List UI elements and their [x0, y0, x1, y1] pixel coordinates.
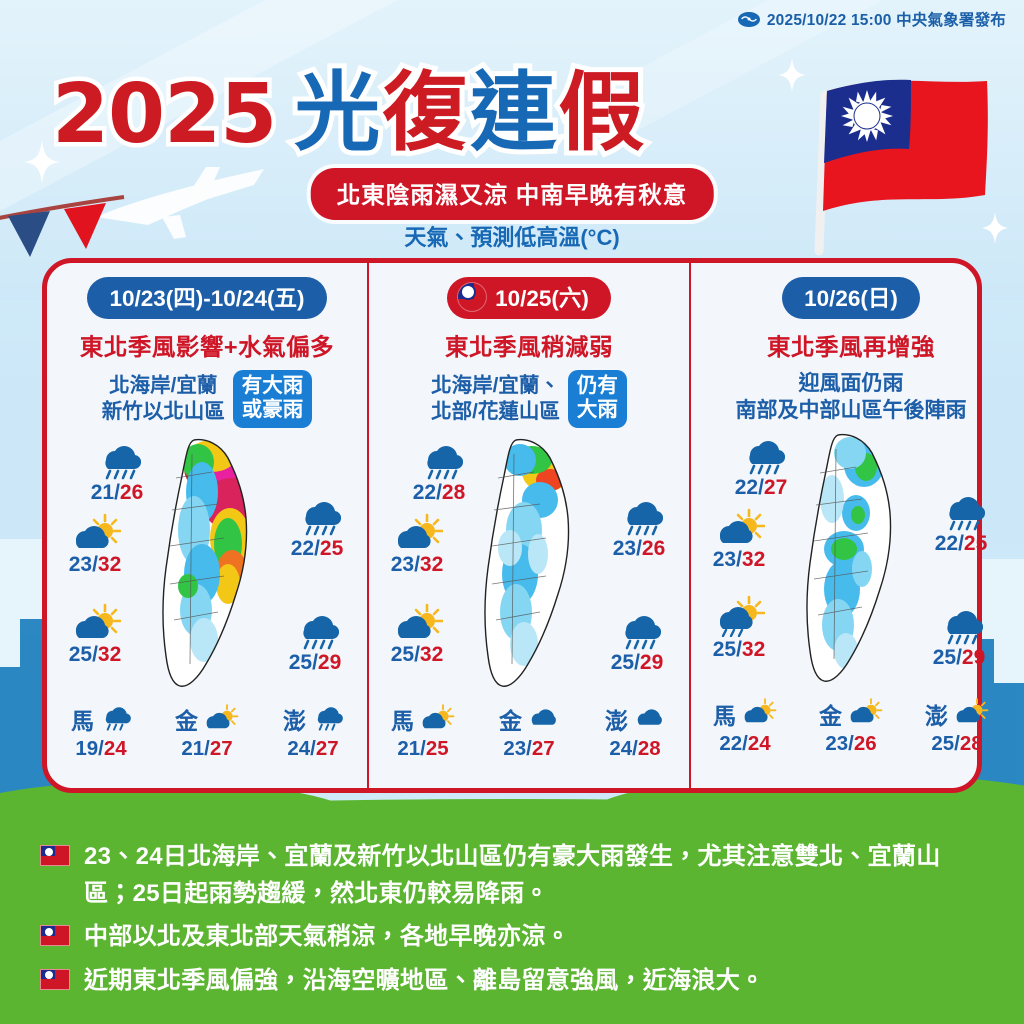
- island-penghu-1: 澎 24/27: [267, 702, 359, 761]
- cloudy-icon: [525, 704, 559, 735]
- island-temp: 23/26: [825, 732, 876, 756]
- temp-east-1: 22/25: [271, 494, 363, 561]
- footer-note-text-1: 23、24日北海岸、宜蘭及新竹以北山區仍有豪大雨發生，尤其注意雙北、宜蘭山區；2…: [84, 839, 984, 912]
- island-temp: 22/24: [719, 732, 770, 756]
- island-name: 澎: [283, 702, 306, 736]
- forecast-card: 10/23(四)-10/24(五) 東北季風影響+水氣偏多 北海岸/宜蘭 新竹以…: [42, 258, 982, 793]
- island-name: 澎: [925, 697, 948, 731]
- island-temp: 23/27: [503, 737, 554, 761]
- partly-sunny-rain-icon: [713, 595, 765, 637]
- warn-line-2b: 大雨: [577, 398, 618, 422]
- forecast-column-2[interactable]: 10/25(六) 東北季風稍減弱 北海岸/宜蘭、 北部/花蓮山區 仍有 大雨: [367, 263, 689, 788]
- subtitle-banner: 北東陰雨濕又涼 中南早晚有秋意: [311, 168, 714, 220]
- date-pill-3[interactable]: 10/26(日): [782, 277, 920, 319]
- island-penghu-2: 澎 24/28: [589, 702, 681, 761]
- desc-lines-2: 北海岸/宜蘭、 北部/花蓮山區: [431, 373, 560, 425]
- temp-southwest-3: 25/32: [693, 595, 785, 662]
- island-name: 金: [175, 702, 198, 736]
- rain-icon: [615, 494, 663, 536]
- footer-note-text-2: 中部以北及東北部天氣稍涼，各地早晚亦涼。: [84, 919, 570, 955]
- cloudy-icon: [631, 704, 665, 735]
- temp-east-3: 22/25: [915, 489, 1007, 556]
- island-penghu-top-2: 澎: [605, 702, 665, 736]
- date-label-3: 10/26(日): [804, 281, 898, 313]
- rain-icon: [935, 603, 983, 645]
- warning-badge-2: 仍有 大雨: [568, 370, 627, 428]
- island-temp: 19/24: [75, 737, 126, 761]
- warn-line-1a: 有大雨: [242, 374, 304, 398]
- desc-line-2a: 北海岸/宜蘭、: [431, 373, 560, 399]
- island-penghu-top-1: 澎: [283, 702, 343, 736]
- column-description-2: 北海岸/宜蘭、 北部/花蓮山區 仍有 大雨: [377, 370, 681, 428]
- temp-west-2: 23/32: [371, 510, 463, 577]
- rain-icon: [737, 433, 785, 475]
- column-description-3: 迎風面仍雨 南部及中部山區午後陣雨: [736, 370, 967, 425]
- island-matsu-2: 馬 21/25: [377, 702, 469, 761]
- footer-note-2: 中部以北及東北部天氣稍涼，各地早晚亦涼。: [40, 919, 984, 955]
- date-pill-2[interactable]: 10/25(六): [447, 277, 611, 319]
- temp-value-north-1: 21/26: [91, 481, 144, 505]
- temp-north-2: 22/28: [393, 438, 485, 505]
- island-kinmen-2: 金 23/27: [483, 702, 575, 761]
- temp-southeast-3: 25/29: [913, 603, 1005, 670]
- rain-icon: [613, 608, 661, 650]
- temp-value-southeast-1: 25/29: [289, 651, 342, 675]
- roc-flag-icon: [791, 55, 1006, 260]
- island-name: 馬: [713, 697, 736, 731]
- temp-southwest-2: 25/32: [371, 600, 463, 667]
- island-kinmen-top-1: 金: [175, 702, 239, 736]
- temp-value-west-3: 23/32: [713, 548, 766, 572]
- desc-line-2b: 北部/花蓮山區: [431, 399, 560, 425]
- desc-line-1a: 北海岸/宜蘭: [102, 373, 225, 399]
- island-kinmen-top-3: 金: [819, 697, 883, 731]
- islands-row-3: 馬 22/24 金 23/26 澎: [699, 697, 1003, 756]
- island-temp: 24/28: [609, 737, 660, 761]
- islands-row-1: 馬 19/24 金 21/27 澎: [55, 702, 359, 761]
- temp-value-north-2: 22/28: [413, 481, 466, 505]
- temp-value-southeast-2: 25/29: [611, 651, 664, 675]
- temp-value-southeast-3: 25/29: [933, 646, 986, 670]
- rain-icon: [293, 494, 341, 536]
- footer-note-text-3: 近期東北季風偏強，沿海空曠地區、離島留意強風，近海浪大。: [84, 963, 764, 999]
- island-kinmen-3: 金 23/26: [805, 697, 897, 756]
- desc-lines-1: 北海岸/宜蘭 新竹以北山區: [102, 373, 225, 425]
- island-name: 澎: [605, 702, 628, 736]
- date-label-2: 10/25(六): [495, 281, 589, 313]
- rain-icon: [309, 703, 343, 736]
- map-zone-2: 22/28 23/32 23/26 25/32: [377, 432, 681, 700]
- footer-notes: 23、24日北海岸、宜蘭及新竹以北山區仍有豪大雨發生，尤其注意雙北、宜蘭山區；2…: [0, 839, 1024, 1006]
- partly-sunny-icon: [391, 510, 443, 552]
- islands-row-2: 馬 21/25 金 23/27 澎: [377, 702, 681, 761]
- island-name: 金: [819, 697, 842, 731]
- island-matsu-top-1: 馬: [71, 702, 131, 736]
- map-zone-1: 21/26 23/32: [55, 432, 359, 700]
- rain-icon: [93, 438, 141, 480]
- title-char-4: 假: [558, 65, 646, 161]
- temp-value-east-1: 22/25: [291, 537, 344, 561]
- warn-line-1b: 或豪雨: [242, 398, 304, 422]
- rain-icon: [97, 703, 131, 736]
- temp-north-3: 22/27: [715, 433, 807, 500]
- roc-flag-icon: [40, 925, 70, 946]
- date-label-1: 10/23(四)-10/24(五): [109, 281, 304, 313]
- partly-sunny-icon: [739, 697, 777, 730]
- date-pill-1[interactable]: 10/23(四)-10/24(五): [87, 277, 326, 319]
- rain-icon: [415, 438, 463, 480]
- partly-sunny-icon: [713, 505, 765, 547]
- island-matsu-top-2: 馬: [391, 702, 455, 736]
- footer-note-1: 23、24日北海岸、宜蘭及新竹以北山區仍有豪大雨發生，尤其注意雙北、宜蘭山區；2…: [40, 839, 984, 912]
- partly-sunny-icon: [845, 697, 883, 730]
- map-zone-3: 22/27 23/32 22/25 25/32: [699, 427, 1003, 695]
- title-main: 光復連假: [294, 42, 646, 167]
- temp-west-1: 23/32: [49, 510, 141, 577]
- partly-sunny-icon: [951, 697, 989, 730]
- title-char-3: 連: [470, 65, 558, 161]
- temp-west-3: 23/32: [693, 505, 785, 572]
- island-temp: 24/27: [287, 737, 338, 761]
- temp-value-southwest-3: 25/32: [713, 638, 766, 662]
- island-kinmen-top-2: 金: [499, 702, 559, 736]
- temp-southwest-1: 25/32: [49, 600, 141, 667]
- island-name: 馬: [391, 702, 414, 736]
- title-char-2: 復: [382, 65, 470, 161]
- footer-note-3: 近期東北季風偏強，沿海空曠地區、離島留意強風，近海浪大。: [40, 963, 984, 999]
- weather-bureau-icon: [738, 12, 760, 27]
- island-kinmen-1: 金 21/27: [161, 702, 253, 761]
- temp-southeast-1: 25/29: [269, 608, 361, 675]
- roc-flag-icon: [40, 845, 70, 866]
- page-title: 2025 光復連假: [52, 42, 646, 167]
- temp-value-southwest-1: 25/32: [69, 643, 122, 667]
- forecast-column-1[interactable]: 10/23(四)-10/24(五) 東北季風影響+水氣偏多 北海岸/宜蘭 新竹以…: [47, 263, 367, 788]
- temp-value-east-2: 23/26: [613, 537, 666, 561]
- temp-value-east-3: 22/25: [935, 532, 988, 556]
- temp-east-2: 23/26: [593, 494, 685, 561]
- partly-sunny-icon: [417, 703, 455, 736]
- temp-value-west-1: 23/32: [69, 553, 122, 577]
- roc-flag-icon: [40, 969, 70, 990]
- title-char-1: 光: [294, 65, 382, 161]
- island-matsu-1: 馬 19/24: [55, 702, 147, 761]
- column-description-1: 北海岸/宜蘭 新竹以北山區 有大雨 或豪雨: [55, 370, 359, 428]
- island-temp: 21/27: [181, 737, 232, 761]
- temp-value-southwest-2: 25/32: [391, 643, 444, 667]
- column-headline-1: 東北季風影響+水氣偏多: [80, 328, 334, 362]
- island-temp: 21/25: [397, 737, 448, 761]
- title-year: 2025: [52, 67, 276, 162]
- partly-sunny-icon: [69, 600, 121, 642]
- island-matsu-3: 馬 22/24: [699, 697, 791, 756]
- desc-line-1b: 新竹以北山區: [102, 399, 225, 425]
- issue-timestamp: 2025/10/22 15:00 中央氣象署發布: [767, 8, 1006, 30]
- island-matsu-top-3: 馬: [713, 697, 777, 731]
- forecast-column-3[interactable]: 10/26(日) 東北季風再增強 迎風面仍雨 南部及中部山區午後陣雨: [689, 263, 1011, 788]
- temp-value-west-2: 23/32: [391, 553, 444, 577]
- rain-icon: [291, 608, 339, 650]
- column-headline-3: 東北季風再增強: [767, 328, 935, 362]
- partly-sunny-icon: [391, 600, 443, 642]
- island-penghu-3: 澎 25/28: [911, 697, 1003, 756]
- column-headline-2: 東北季風稍減弱: [445, 328, 613, 362]
- partly-sunny-icon: [69, 510, 121, 552]
- temp-north-1: 21/26: [71, 438, 163, 505]
- warn-line-2a: 仍有: [577, 374, 618, 398]
- roc-flag-icon: [457, 282, 487, 312]
- rain-icon: [937, 489, 985, 531]
- temp-value-north-3: 22/27: [735, 476, 788, 500]
- island-name: 馬: [71, 702, 94, 736]
- warning-badge-1: 有大雨 或豪雨: [233, 370, 313, 428]
- partly-sunny-icon: [201, 703, 239, 736]
- temp-southeast-2: 25/29: [591, 608, 683, 675]
- island-temp: 25/28: [931, 732, 982, 756]
- island-name: 金: [499, 702, 522, 736]
- island-penghu-top-3: 澎: [925, 697, 989, 731]
- temperature-legend: 天氣、預測低高溫(°C): [404, 220, 619, 252]
- issue-stamp: 2025/10/22 15:00 中央氣象署發布: [738, 8, 1006, 30]
